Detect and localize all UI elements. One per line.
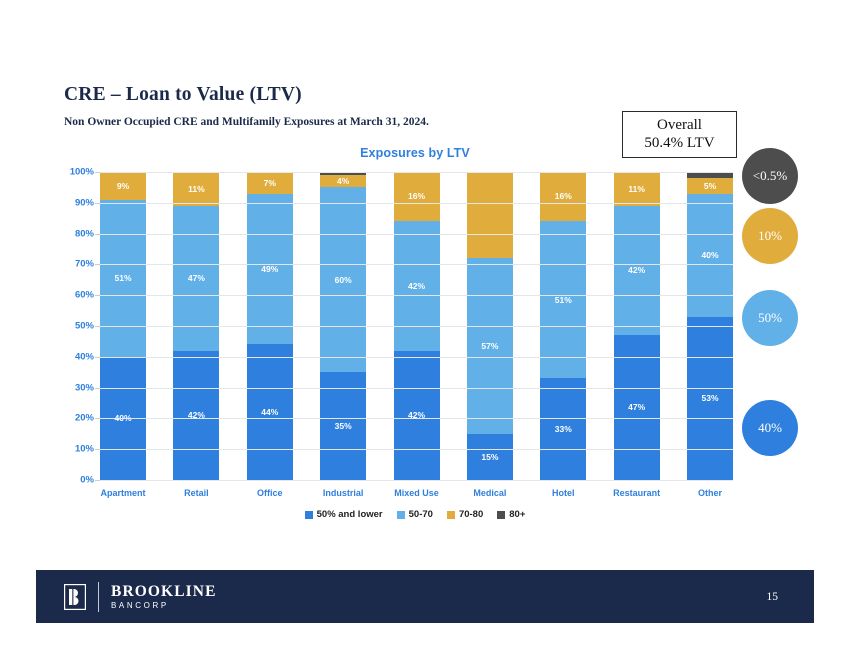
x-axis-category-label: Retail (184, 488, 209, 498)
legend-label: 70-80 (459, 509, 483, 520)
bar-segment[interactable]: 42% (173, 351, 219, 480)
bar-segment-label: 11% (188, 185, 205, 194)
bar-segment[interactable]: 42% (394, 221, 440, 350)
bar-segment-label: 42% (628, 266, 645, 275)
summary-circle: 50% (742, 290, 798, 346)
x-axis-category-label: Medical (473, 488, 506, 498)
chart-legend: 50% and lower50-7070-8080+ (0, 509, 850, 520)
legend-item[interactable]: 50% and lower (305, 509, 383, 520)
legend-item[interactable]: 50-70 (397, 509, 433, 520)
y-axis-tick-label: 10% (75, 444, 94, 455)
bar-segment[interactable]: 11% (614, 172, 660, 206)
bar-segment[interactable]: 5% (687, 178, 733, 193)
y-axis-tick-mark (95, 357, 100, 358)
bar-segment-label: 47% (188, 274, 205, 283)
y-axis-tick-label: 30% (75, 382, 94, 393)
bar-segment[interactable]: 49% (247, 194, 293, 345)
y-axis-tick-label: 60% (75, 290, 94, 301)
bar-segment[interactable]: 51% (540, 221, 586, 378)
summary-circle-group: <0.5%10%50%40% (742, 148, 798, 464)
y-axis-tick-mark (95, 295, 100, 296)
bar-segment[interactable]: 44% (247, 344, 293, 480)
x-axis-category-label: Hotel (552, 488, 575, 498)
x-axis-category-label: Apartment (100, 488, 145, 498)
y-axis-tick-mark (95, 172, 100, 173)
bar-segment[interactable]: 9% (100, 172, 146, 200)
legend-swatch-icon (447, 511, 455, 519)
legend-swatch-icon (397, 511, 405, 519)
legend-item[interactable]: 80+ (497, 509, 525, 520)
brand-name: BROOKLINE (111, 583, 217, 600)
x-axis-category-label: Mixed Use (394, 488, 439, 498)
x-axis-category-label: Office (257, 488, 283, 498)
legend-label: 50-70 (409, 509, 433, 520)
legend-label: 80+ (509, 509, 525, 520)
gridline (100, 326, 733, 327)
gridline (100, 234, 733, 235)
bar-segment[interactable]: 60% (320, 187, 366, 372)
chart-plot-area: 9%51%40%Apartment11%47%42%Retail7%49%44%… (100, 172, 733, 480)
y-axis-tick-mark (95, 418, 100, 419)
legend-label: 50% and lower (317, 509, 383, 520)
y-axis-tick-label: 80% (75, 228, 94, 239)
brand-subname: BANCORP (111, 600, 217, 611)
bar-segment[interactable]: 7% (247, 172, 293, 194)
y-axis-tick-mark (95, 203, 100, 204)
brookline-bb-monogram-icon (64, 584, 86, 610)
bar-segment[interactable] (467, 172, 513, 258)
bar-segment-label: 53% (701, 394, 718, 403)
gridline (100, 295, 733, 296)
slide: CRE – Loan to Value (LTV) Non Owner Occu… (0, 0, 850, 657)
y-axis-tick-mark (95, 449, 100, 450)
footer-bar: BROOKLINE BANCORP 15 (36, 570, 814, 623)
page-title: CRE – Loan to Value (LTV) (64, 84, 302, 106)
page-number: 15 (767, 591, 779, 603)
bar-segment[interactable]: 51% (100, 200, 146, 357)
brand-text: BROOKLINE BANCORP (111, 583, 217, 611)
y-axis-tick-label: 90% (75, 197, 94, 208)
brand-logo: BROOKLINE BANCORP (64, 582, 217, 612)
bar-segment-label: 9% (117, 182, 129, 191)
y-axis-tick-label: 100% (70, 167, 94, 178)
gridline (100, 418, 733, 419)
y-axis-tick-label: 20% (75, 413, 94, 424)
bar-segment-label: 51% (114, 274, 131, 283)
gridline (100, 357, 733, 358)
bar-segment[interactable]: 15% (467, 434, 513, 480)
summary-circle: 10% (742, 208, 798, 264)
bar-segment-label: 44% (261, 408, 278, 417)
y-axis-tick-mark (95, 264, 100, 265)
bar-segment-label: 51% (555, 296, 572, 305)
gridline (100, 264, 733, 265)
y-axis-tick-label: 40% (75, 351, 94, 362)
gridline (100, 172, 733, 173)
y-axis-tick-label: 50% (75, 321, 94, 332)
y-axis-tick-mark (95, 480, 100, 481)
gridline (100, 449, 733, 450)
legend-swatch-icon (305, 511, 313, 519)
bar-segment-label: 42% (408, 282, 425, 291)
summary-circle: <0.5% (742, 148, 798, 204)
bar-segment-label: 11% (628, 185, 645, 194)
page-subtitle: Non Owner Occupied CRE and Multifamily E… (64, 116, 429, 128)
y-axis-tick-mark (95, 234, 100, 235)
overall-callout-line1: Overall (657, 117, 702, 134)
bar-segment-label: 35% (335, 422, 352, 431)
bar-segment-label: 40% (701, 251, 718, 260)
bar-segment[interactable]: 42% (394, 351, 440, 480)
x-axis-category-label: Other (698, 488, 722, 498)
gridline (100, 480, 733, 481)
logo-divider (98, 582, 99, 612)
gridline (100, 203, 733, 204)
y-axis-tick-label: 70% (75, 259, 94, 270)
bar-segment-label: 4% (337, 177, 349, 186)
bar-segment[interactable]: 40% (687, 194, 733, 317)
bar-segment[interactable]: 47% (173, 206, 219, 351)
bar-segment-label: 57% (481, 342, 498, 351)
summary-circle: 40% (742, 400, 798, 456)
gridline (100, 388, 733, 389)
bar-segment[interactable]: 4% (320, 175, 366, 187)
bar-segment-label: 7% (264, 179, 276, 188)
legend-item[interactable]: 70-80 (447, 509, 483, 520)
bar-segment[interactable]: 53% (687, 317, 733, 480)
overall-ltv-callout: Overall 50.4% LTV (622, 111, 737, 158)
overall-callout-line2: 50.4% LTV (644, 134, 714, 152)
bar-segment[interactable]: 57% (467, 258, 513, 434)
y-axis-tick-label: 0% (80, 475, 94, 486)
legend-swatch-icon (497, 511, 505, 519)
bar-segment-label: 47% (628, 403, 645, 412)
bar-segment[interactable]: 33% (540, 378, 586, 480)
bar-segment-label: 33% (555, 425, 572, 434)
bar-segment[interactable]: 11% (173, 172, 219, 206)
bar-segment-label: 60% (335, 276, 352, 285)
bar-segment-label: 5% (704, 182, 716, 191)
bar-segment[interactable]: 42% (614, 206, 660, 335)
bar-segment-label: 16% (555, 192, 572, 201)
bar-segment-label: 49% (261, 265, 278, 274)
bar-segment-label: 15% (481, 453, 498, 462)
y-axis-tick-mark (95, 388, 100, 389)
bar-segment[interactable]: 16% (394, 172, 440, 221)
chart-title-text: Exposures by LTV (360, 146, 470, 160)
x-axis-category-label: Industrial (323, 488, 364, 498)
bar-segment[interactable]: 16% (540, 172, 586, 221)
x-axis-category-label: Restaurant (613, 488, 660, 498)
bar-segment-label: 16% (408, 192, 425, 201)
y-axis-tick-mark (95, 326, 100, 327)
